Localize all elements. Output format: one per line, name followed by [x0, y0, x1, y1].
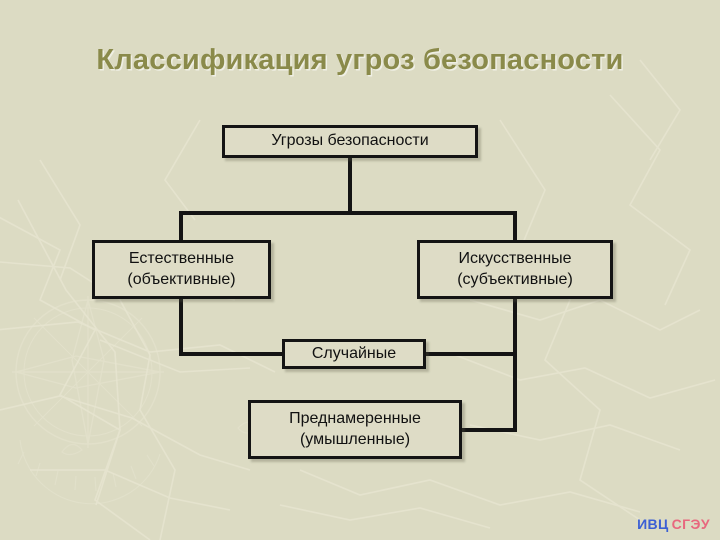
node-deliberate-intentional[interactable]: Преднамеренные (умышленные) — [248, 400, 462, 459]
footer-logo: ИВЦСГЭУ — [637, 516, 710, 532]
node-random[interactable]: Случайные — [282, 339, 426, 369]
node-threats-root[interactable]: Угрозы безопасности — [222, 125, 478, 158]
slide-canvas: Классификация угроз безопасности Угрозы … — [0, 0, 720, 540]
node-label-line1: Естественные — [129, 249, 234, 269]
node-natural-objective[interactable]: Естественные (объективные) — [92, 240, 271, 299]
node-label: Угрозы безопасности — [271, 131, 428, 151]
node-label: Случайные — [312, 344, 396, 364]
logo-text-sgeu: СГЭУ — [672, 516, 710, 532]
node-label-line1: Искусственные — [458, 249, 571, 269]
node-artificial-subjective[interactable]: Искусственные (субъективные) — [417, 240, 613, 299]
node-label-line1: Преднамеренные — [289, 409, 421, 429]
node-label-line2: (умышленные) — [300, 430, 410, 450]
logo-text-ivc: ИВЦ — [637, 516, 669, 532]
node-label-line2: (субъективные) — [457, 270, 573, 290]
node-label-line2: (объективные) — [127, 270, 235, 290]
